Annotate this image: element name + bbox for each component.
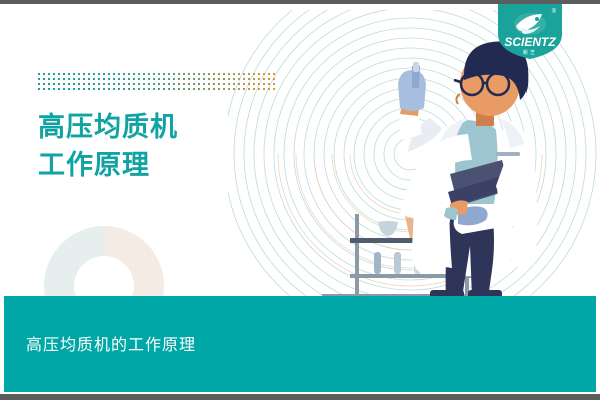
dot-grid-dot (203, 88, 205, 90)
dot-grid-dot (218, 78, 220, 80)
dot-grid-dot (73, 78, 75, 80)
dot-grid-dot (93, 88, 95, 90)
dot-grid-dot (203, 83, 205, 85)
dot-grid-dot (208, 88, 210, 90)
dot-grid-dot (93, 73, 95, 75)
dot-grid-dot (233, 88, 235, 90)
dot-grid-dot (38, 88, 40, 90)
dot-grid-dot (103, 83, 105, 85)
dot-grid-dot (73, 73, 75, 75)
dot-grid-dot (183, 83, 185, 85)
dot-grid-dot (63, 88, 65, 90)
title-line-1: 高压均质机 (38, 112, 178, 142)
dot-grid-dot (263, 88, 265, 90)
dot-grid-dot (193, 73, 195, 75)
dot-grid-dot (83, 73, 85, 75)
dot-grid-dot (148, 73, 150, 75)
dot-grid-dot (248, 78, 250, 80)
dot-grid-dot (103, 73, 105, 75)
dot-grid-dot (88, 73, 90, 75)
dot-grid-dot (143, 78, 145, 80)
dot-grid-dot (173, 73, 175, 75)
dot-grid-dot (178, 78, 180, 80)
dot-grid-dot (78, 88, 80, 90)
dot-grid-dot (188, 78, 190, 80)
dot-grid-dot (58, 88, 60, 90)
dot-grid-dot (253, 83, 255, 85)
dot-grid-dot (198, 88, 200, 90)
dot-grid-dot (173, 78, 175, 80)
dot-grid-dot (138, 78, 140, 80)
dot-grid-dot (98, 73, 100, 75)
dot-grid-dot (208, 73, 210, 75)
dot-grid-dot (128, 83, 130, 85)
page-title: 高压均质机 工作原理 (38, 108, 178, 184)
dot-grid-dot (203, 73, 205, 75)
dot-grid-dot (53, 83, 55, 85)
dot-grid-dot (143, 73, 145, 75)
dot-grid-dot (88, 83, 90, 85)
dot-grid-dot (218, 83, 220, 85)
dot-grid-dot (183, 78, 185, 80)
dot-grid-dot (168, 78, 170, 80)
dot-grid-dot (198, 73, 200, 75)
dot-grid-dot (53, 73, 55, 75)
dot-grid-dot (178, 83, 180, 85)
dot-grid-dot (83, 78, 85, 80)
dot-grid-dot (263, 78, 265, 80)
dot-grid-dot (153, 88, 155, 90)
logo-sub-text: 新芝 (523, 49, 537, 56)
dot-grid-dot (43, 78, 45, 80)
dot-grid-dot (163, 78, 165, 80)
dot-grid-dot (273, 88, 275, 90)
dot-grid-dot (43, 88, 45, 90)
dot-grid-dot (128, 88, 130, 90)
dot-grid-dot (233, 73, 235, 75)
title-line-2: 工作原理 (38, 146, 178, 184)
logo-brand-text: SCIENTZ (504, 35, 556, 49)
dot-grid-dot (233, 78, 235, 80)
dot-grid-dot (108, 83, 110, 85)
logo-registered-mark: ® (552, 8, 557, 15)
dot-grid-dot (148, 88, 150, 90)
dot-grid-dot (263, 83, 265, 85)
dot-grid-dot (98, 88, 100, 90)
dot-grid-dot (203, 78, 205, 80)
dot-grid-dot (238, 83, 240, 85)
dot-grid-row (38, 88, 278, 93)
dot-grid-dot (118, 88, 120, 90)
dot-grid-dot (273, 83, 275, 85)
dot-grid-dot (83, 83, 85, 85)
dot-grid-dot (188, 83, 190, 85)
dot-grid-dot (153, 83, 155, 85)
dot-grid-dot (78, 78, 80, 80)
dot-grid-dot (123, 78, 125, 80)
dot-grid-dot (138, 83, 140, 85)
dot-grid-dot (93, 78, 95, 80)
dot-grid-dot (133, 83, 135, 85)
scientz-shield-logo[interactable]: SCIENTZ 新芝 ® (496, 4, 564, 60)
dot-grid-dot (38, 78, 40, 80)
dot-grid-dot (213, 78, 215, 80)
dot-grid-dot (163, 83, 165, 85)
dot-grid-dot (48, 83, 50, 85)
dot-grid-dot (93, 83, 95, 85)
dot-grid-dot (108, 88, 110, 90)
dot-grid-dot (63, 83, 65, 85)
dot-grid-dot (248, 73, 250, 75)
dot-grid-dot (143, 83, 145, 85)
dot-grid-dot (173, 83, 175, 85)
dot-grid-dot (223, 88, 225, 90)
dot-grid-dot (218, 73, 220, 75)
dot-grid-dot (178, 88, 180, 90)
dot-grid-dot (168, 73, 170, 75)
dot-grid-dot (273, 73, 275, 75)
dot-grid-dot (63, 73, 65, 75)
slide-canvas: 高压均质机 工作原理 (0, 4, 600, 394)
dot-grid-dot (113, 83, 115, 85)
dot-grid-dot (258, 83, 260, 85)
dot-grid-dot (123, 88, 125, 90)
dot-grid-dot (193, 83, 195, 85)
dot-grid-dot (153, 73, 155, 75)
dot-grid-dot (38, 83, 40, 85)
dot-grid-dot (243, 73, 245, 75)
dot-grid-dot (158, 78, 160, 80)
dot-grid-dot (178, 73, 180, 75)
dot-grid-dot (233, 83, 235, 85)
dot-grid-dot (268, 83, 270, 85)
dot-grid-dot (228, 88, 230, 90)
dot-grid-dot (243, 83, 245, 85)
footer-caption: 高压均质机的工作原理 (26, 331, 196, 355)
dot-grid-dot (68, 73, 70, 75)
dot-grid-dot (173, 88, 175, 90)
dot-grid-dot (158, 73, 160, 75)
dot-grid-dot (58, 78, 60, 80)
dot-grid-dot (118, 78, 120, 80)
dot-grid-dot (253, 88, 255, 90)
dot-grid-dot (63, 78, 65, 80)
dot-grid-dot (258, 88, 260, 90)
dot-grid-dot (108, 73, 110, 75)
dot-grid-dot (143, 88, 145, 90)
dot-grid-dot (183, 73, 185, 75)
dot-grid-dot (98, 83, 100, 85)
dot-grid-dot (163, 73, 165, 75)
dot-grid-dot (133, 88, 135, 90)
dot-grid-dot (88, 88, 90, 90)
dot-grid-dot (253, 78, 255, 80)
dot-grid-dot (38, 73, 40, 75)
scientist-laboratory-illustration (300, 22, 600, 304)
bottom-frame-bar (0, 394, 600, 400)
dot-grid-dot (193, 78, 195, 80)
dot-grid-dot (53, 88, 55, 90)
dot-grid-dot (198, 78, 200, 80)
dot-grid-dot (128, 73, 130, 75)
dot-grid-dot (118, 83, 120, 85)
dot-grid-dot (113, 88, 115, 90)
dot-grid-dot (43, 83, 45, 85)
dot-grid-dot (113, 73, 115, 75)
dot-grid-dot (238, 78, 240, 80)
dot-grid-dot (223, 83, 225, 85)
dot-grid-dot (158, 83, 160, 85)
dot-grid-dot (103, 78, 105, 80)
dot-grid-dot (253, 73, 255, 75)
dot-grid-dot (218, 88, 220, 90)
dot-grid-dot (163, 88, 165, 90)
dot-grid-dot (123, 73, 125, 75)
dot-grid-dot (238, 88, 240, 90)
footer-bar: 高压均质机的工作原理 (4, 296, 596, 392)
dot-grid-dot (188, 73, 190, 75)
dot-grid-dot (83, 88, 85, 90)
dot-grid-dot (248, 88, 250, 90)
dot-grid-dot (73, 88, 75, 90)
dot-grid-dot (158, 88, 160, 90)
dot-grid-dot (78, 83, 80, 85)
dot-grid-dot (128, 78, 130, 80)
dot-grid-dot (168, 83, 170, 85)
dot-grid-dot (48, 78, 50, 80)
dot-grid-dot (113, 78, 115, 80)
dot-grid-dot (133, 78, 135, 80)
dot-grid-dot (68, 83, 70, 85)
dot-grid-dot (88, 78, 90, 80)
dot-grid-dot (198, 83, 200, 85)
dot-grid-dot (108, 78, 110, 80)
dot-grid-dot (208, 83, 210, 85)
dot-grid-dot (213, 88, 215, 90)
dot-grid-dot (48, 88, 50, 90)
dot-grid-dot (213, 73, 215, 75)
slide-root: 高压均质机 工作原理 (0, 0, 600, 400)
dot-grid-dot (268, 78, 270, 80)
dot-grid-dot (258, 73, 260, 75)
dot-grid-dot (58, 73, 60, 75)
dot-grid-dot (268, 88, 270, 90)
dot-grid-dot (68, 78, 70, 80)
dot-grid-decoration (38, 73, 278, 93)
dot-grid-dot (193, 88, 195, 90)
dot-grid-dot (148, 83, 150, 85)
dot-grid-dot (243, 88, 245, 90)
dot-grid-dot (78, 73, 80, 75)
dot-grid-dot (153, 78, 155, 80)
dot-grid-dot (208, 78, 210, 80)
dot-grid-dot (228, 78, 230, 80)
dot-grid-dot (258, 78, 260, 80)
dot-grid-dot (183, 88, 185, 90)
dot-grid-dot (133, 73, 135, 75)
dot-grid-dot (138, 88, 140, 90)
dot-grid-dot (223, 78, 225, 80)
dot-grid-dot (213, 83, 215, 85)
dot-grid-dot (168, 88, 170, 90)
dot-grid-dot (243, 78, 245, 80)
dot-grid-dot (73, 83, 75, 85)
dot-grid-dot (98, 78, 100, 80)
dot-grid-dot (188, 88, 190, 90)
dot-grid-dot (273, 78, 275, 80)
dot-grid-dot (223, 73, 225, 75)
dot-grid-dot (238, 73, 240, 75)
dot-grid-dot (138, 73, 140, 75)
dot-grid-dot (103, 88, 105, 90)
dot-grid-dot (58, 83, 60, 85)
dot-grid-dot (118, 73, 120, 75)
dot-grid-dot (228, 83, 230, 85)
dot-grid-dot (43, 73, 45, 75)
dot-grid-dot (123, 83, 125, 85)
dot-grid-dot (248, 83, 250, 85)
dot-grid-dot (228, 73, 230, 75)
dot-grid-dot (148, 78, 150, 80)
dot-grid-dot (268, 73, 270, 75)
dot-grid-dot (53, 78, 55, 80)
dot-grid-dot (48, 73, 50, 75)
dot-grid-dot (68, 88, 70, 90)
dot-grid-dot (263, 73, 265, 75)
